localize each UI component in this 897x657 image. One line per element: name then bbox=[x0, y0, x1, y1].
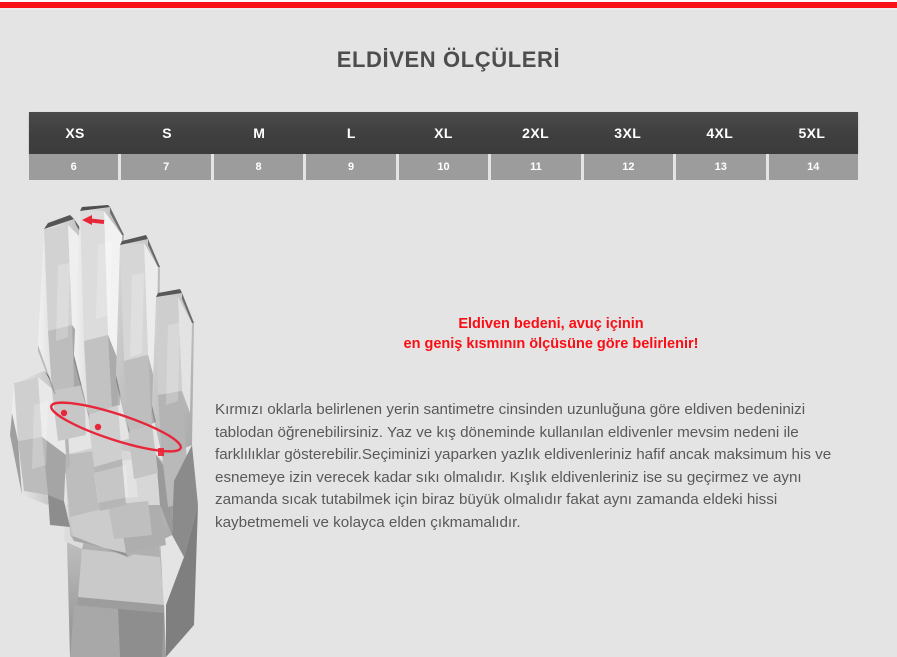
size-value-cell: 10 bbox=[399, 154, 491, 180]
size-header-cell: 3XL bbox=[582, 112, 674, 154]
size-table-value-row: 6 7 8 9 10 11 12 13 14 bbox=[29, 154, 858, 180]
size-header-cell: XS bbox=[29, 112, 121, 154]
size-value-cell: 8 bbox=[214, 154, 306, 180]
size-header-cell: S bbox=[121, 112, 213, 154]
size-header-cell: 2XL bbox=[490, 112, 582, 154]
size-table: XS S M L XL 2XL 3XL 4XL 5XL 6 7 8 9 10 1… bbox=[29, 112, 858, 180]
size-value-cell: 13 bbox=[676, 154, 768, 180]
top-accent-bar-shadow bbox=[0, 8, 897, 10]
measurement-notice-line2: en geniş kısmının ölçüsüne göre belirlen… bbox=[215, 334, 887, 354]
size-header-cell: M bbox=[213, 112, 305, 154]
size-header-cell: 5XL bbox=[766, 112, 858, 154]
measurement-notice: Eldiven bedeni, avuç içinin en geniş kıs… bbox=[215, 314, 887, 354]
description-paragraph: Kırmızı oklarla belirlenen yerin santime… bbox=[215, 399, 843, 535]
hand-illustration bbox=[8, 205, 223, 657]
size-guide-page: ELDİVEN ÖLÇÜLERİ XS S M L XL 2XL 3XL 4XL… bbox=[0, 0, 897, 657]
size-value-cell: 9 bbox=[306, 154, 398, 180]
size-value-cell: 6 bbox=[29, 154, 121, 180]
low-poly-hand-icon bbox=[8, 205, 223, 657]
size-value-cell: 12 bbox=[584, 154, 676, 180]
measurement-notice-line1: Eldiven bedeni, avuç içinin bbox=[215, 314, 887, 334]
size-table-header-row: XS S M L XL 2XL 3XL 4XL 5XL bbox=[29, 112, 858, 154]
size-value-cell: 11 bbox=[491, 154, 583, 180]
size-header-cell: L bbox=[305, 112, 397, 154]
size-header-cell: 4XL bbox=[674, 112, 766, 154]
size-value-cell: 14 bbox=[769, 154, 858, 180]
description-text: Kırmızı oklarla belirlenen yerin santime… bbox=[215, 399, 843, 535]
size-value-cell: 7 bbox=[121, 154, 213, 180]
size-header-cell: XL bbox=[397, 112, 489, 154]
page-title: ELDİVEN ÖLÇÜLERİ bbox=[0, 47, 897, 73]
